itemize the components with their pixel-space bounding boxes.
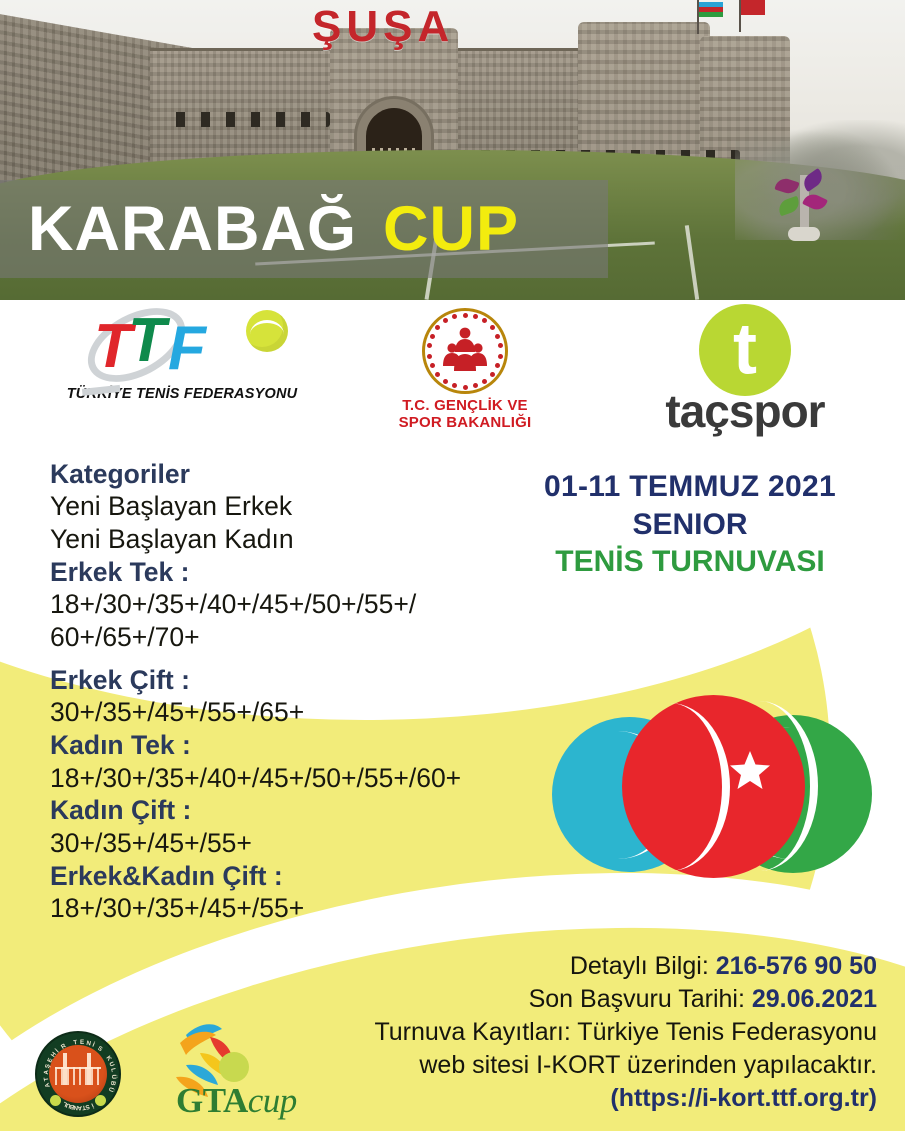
category-label-karisik-cift: Erkek&Kadın Çift :	[50, 860, 520, 892]
event-dates: 01-11 TEMMUZ 2021	[505, 468, 875, 506]
tennis-balls-graphic	[552, 695, 882, 875]
atk-ring-text: ATAŞEHİR TENİS KULÜBÜİSTANBUL	[37, 1033, 123, 1119]
category-plain-2: Yeni Başlayan Kadın	[50, 523, 520, 556]
ministry-figures-icon	[442, 326, 488, 376]
contact-deadline-value: 29.06.2021	[752, 985, 877, 1013]
ministry-emblem-dot	[435, 372, 440, 377]
category-label-kadin-tek: Kadın Tek :	[50, 729, 520, 761]
ministry-emblem-dot	[443, 318, 448, 323]
ministry-emblem-dot	[443, 379, 448, 384]
ministry-emblem-dot	[427, 354, 432, 359]
gtacup-text-italic: cup	[248, 1081, 297, 1120]
registration-line-1: Turnuva Kayıtları: Türkiye Tenis Federas…	[297, 1016, 877, 1049]
bottom-logo-row: ATAŞEHİR TENİS KULÜBÜİSTANBUL GTAcup	[30, 1017, 350, 1125]
gtacup-text-bold: GTA	[176, 1081, 248, 1120]
ministry-logo: T.C. GENÇLİK VE SPOR BAKANLIĞI	[365, 306, 565, 432]
contact-info-row: Detaylı Bilgi: 216-576 90 50	[297, 950, 877, 983]
registration-line-2: web sitesi I-KORT üzerinden yapılacaktır…	[297, 1049, 877, 1082]
ministry-emblem-dot	[495, 334, 500, 339]
contact-deadline-label: Son Başvuru Tarihi:	[529, 985, 745, 1013]
crescent-star-icon	[622, 695, 805, 878]
contact-info-value: 216-576 90 50	[716, 952, 877, 980]
susa-sign: ŞUŞA	[312, 2, 454, 52]
atk-ring-char: T	[73, 1039, 78, 1047]
category-values-kadin-cift: 30+/35+/45+/55+	[50, 827, 520, 860]
atk-ring-char: Ü	[107, 1086, 115, 1093]
ministry-emblem-dot	[482, 379, 487, 384]
category-values-kadin-tek: 18+/30+/35+/40+/45+/50+/55+/60+	[50, 762, 520, 795]
ministry-emblem-dot	[427, 343, 432, 348]
tennis-ball-icon	[246, 310, 288, 352]
ministry-emblem-dot	[490, 325, 495, 330]
gtacup-logo: GTAcup	[148, 1019, 338, 1123]
atasehir-tenis-kulubu-logo: ATAŞEHİR TENİS KULÜBÜİSTANBUL	[35, 1031, 121, 1117]
category-values-erkek-tek-1: 18+/30+/35+/40+/45+/50+/55+/	[50, 588, 520, 621]
category-plain-1: Yeni Başlayan Erkek	[50, 490, 520, 523]
ministry-emblem-dot	[490, 372, 495, 377]
sponsor-logo-row: T T F TÜRKİYE TENİS FEDERASYONU	[0, 300, 905, 450]
hero-title-accent: CUP	[383, 198, 519, 261]
atk-ring-char: N	[86, 1040, 92, 1048]
categories-block: Kategoriler Yeni Başlayan Erkek Yeni Baş…	[50, 458, 520, 925]
ministry-caption-line1: T.C. GENÇLİK VE	[365, 398, 565, 415]
atk-ring-char: A	[44, 1082, 52, 1089]
category-label-erkek-tek: Erkek Tek :	[50, 556, 520, 588]
atk-ring-char: T	[43, 1077, 50, 1082]
content-panel: T T F TÜRKİYE TENİS FEDERASYONU	[0, 300, 905, 1131]
ministry-emblem-dot	[473, 383, 478, 388]
tacspor-mark-letter: t	[733, 320, 757, 379]
ttf-letter-3: F	[168, 318, 206, 380]
ministry-emblem-dot	[452, 314, 457, 319]
atk-ring-char: B	[109, 1080, 117, 1085]
atk-ring-char: Ş	[44, 1063, 52, 1069]
poster-root: ŞUŞA KARABAĞ CUP T T F TÜRKİYE TENİS FE	[0, 0, 905, 1131]
ttf-mark-icon: T T F	[62, 308, 302, 386]
atk-ring-char: Ü	[110, 1074, 117, 1079]
ministry-emblem-dot	[430, 334, 435, 339]
atk-ring-char: R	[60, 1042, 68, 1050]
ttf-letter-2: T	[128, 310, 166, 372]
turkey-flag	[741, 0, 765, 15]
category-label-erkek-cift: Erkek Çift :	[50, 664, 520, 696]
hero-title-main: KARABAĞ	[28, 198, 357, 261]
category-label-kadin-cift: Kadın Çift :	[50, 794, 520, 826]
hero-title-row: KARABAĞ CUP	[0, 180, 905, 278]
tacspor-mark-icon: t	[699, 304, 791, 396]
atk-ring-char: L	[109, 1067, 117, 1072]
atk-ring-char: A	[43, 1070, 50, 1075]
ministry-emblem-dot	[430, 363, 435, 368]
ministry-emblem-dot	[452, 383, 457, 388]
ministry-emblem-dot	[495, 363, 500, 368]
gtacup-text: GTAcup	[176, 1081, 297, 1121]
ministry-emblem-dot	[463, 385, 468, 390]
hero-photo: ŞUŞA KARABAĞ CUP	[0, 0, 905, 300]
ttf-letter-1: T	[94, 316, 132, 378]
category-values-karisik-cift: 18+/30+/35+/45+/55+	[50, 892, 520, 925]
contact-deadline-row: Son Başvuru Tarihi: 29.06.2021	[297, 983, 877, 1016]
atk-ring-char: İ	[91, 1042, 95, 1049]
event-type: TENİS TURNUVASI	[505, 543, 875, 581]
tennis-ball-red	[622, 695, 805, 878]
wall-arrow-slits-upper	[160, 112, 330, 127]
atk-ring-char: E	[46, 1057, 54, 1064]
registration-url[interactable]: (https://i-kort.ttf.org.tr)	[297, 1082, 877, 1115]
ministry-emblem-dot	[473, 314, 478, 319]
ministry-emblem-dot	[463, 313, 468, 318]
category-values-erkek-tek-2: 60+/65+/70+	[50, 621, 520, 654]
tacspor-logo: t taçspor	[630, 304, 860, 434]
event-title-block: 01-11 TEMMUZ 2021 SENIOR TENİS TURNUVASI	[505, 468, 875, 581]
contact-info-label: Detaylı Bilgi:	[570, 952, 709, 980]
atk-ring-char: İ	[90, 1101, 94, 1108]
ministry-emblem-dot	[435, 325, 440, 330]
ministry-emblem-dot	[498, 354, 503, 359]
contact-block: Detaylı Bilgi: 216-576 90 50 Son Başvuru…	[297, 950, 877, 1115]
ministry-caption-line2: SPOR BAKANLIĞI	[365, 415, 565, 432]
event-level: SENIOR	[505, 506, 875, 544]
azerbaijan-flag	[699, 2, 723, 17]
ministry-emblem-dot	[498, 343, 503, 348]
ministry-emblem-icon	[365, 306, 565, 398]
atk-ring-char: E	[80, 1039, 84, 1046]
categories-heading: Kategoriler	[50, 458, 520, 490]
atk-ring-char: S	[96, 1045, 103, 1053]
category-values-erkek-cift: 30+/35+/45+/55+/65+	[50, 696, 520, 729]
ministry-emblem-dot	[482, 318, 487, 323]
ttf-logo: T T F TÜRKİYE TENİS FEDERASYONU	[62, 308, 302, 402]
